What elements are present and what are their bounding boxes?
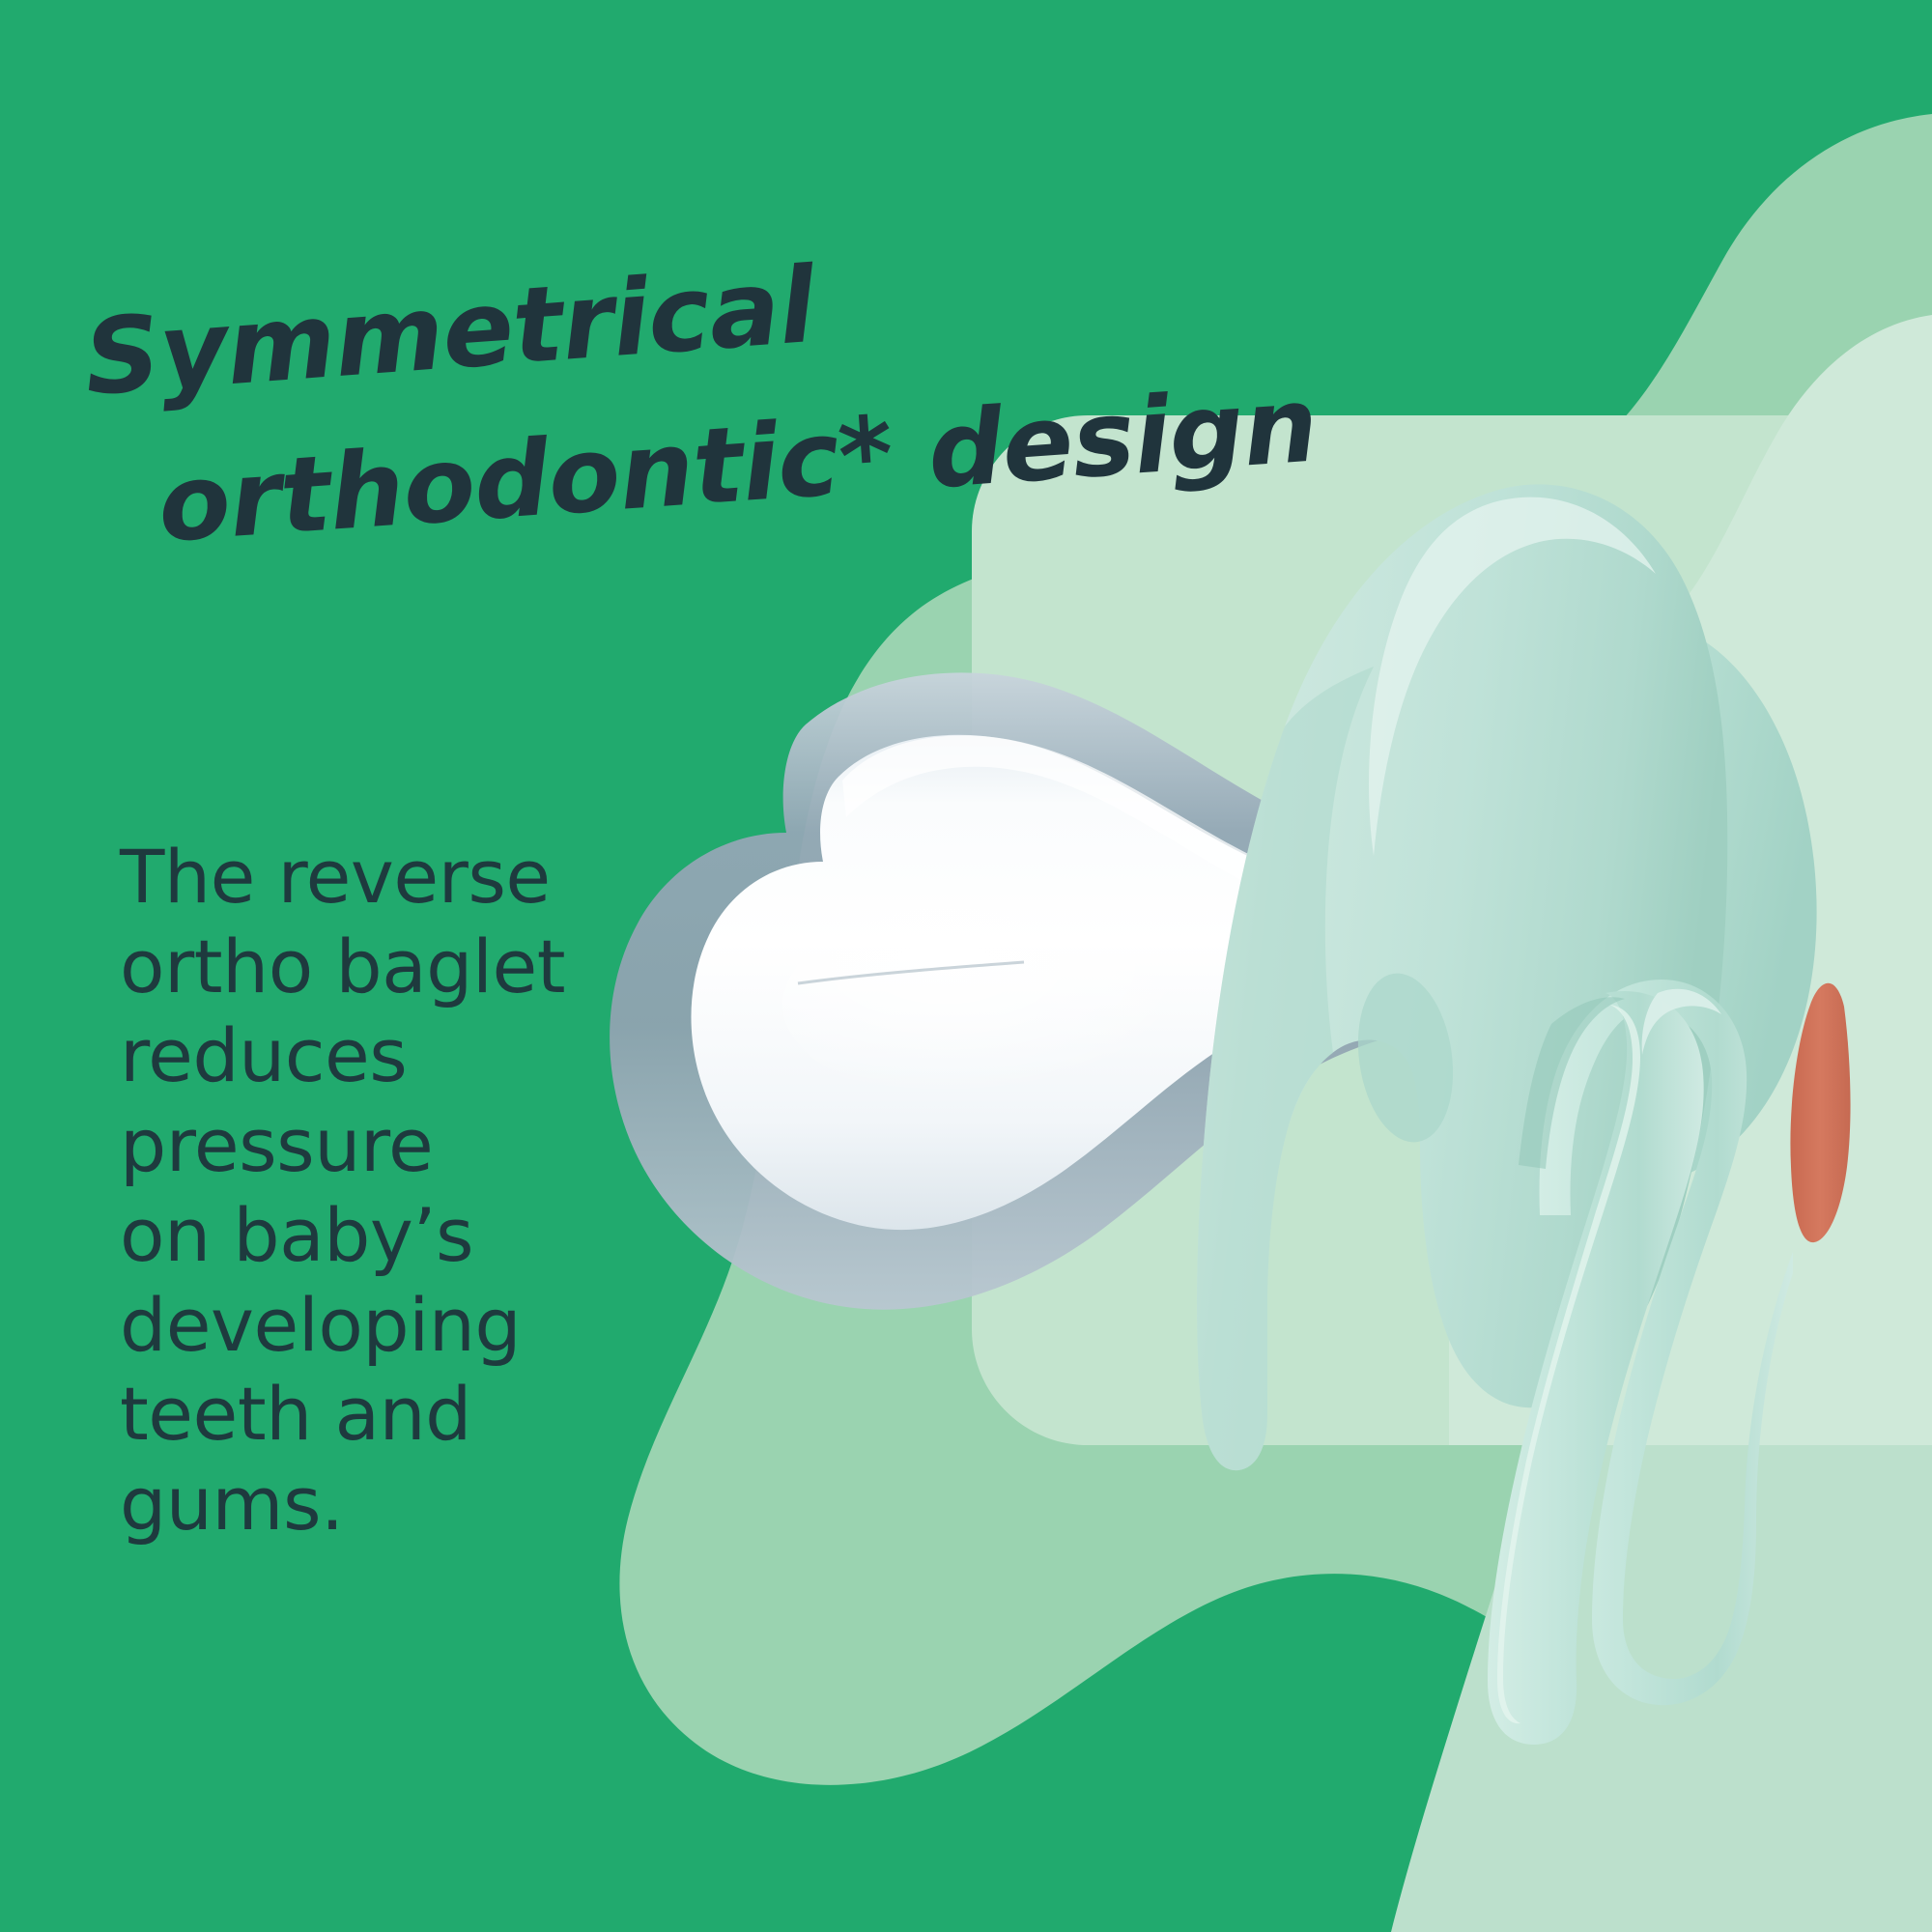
body-line: developing — [120, 1281, 661, 1371]
promo-card: Symmetrical orthodontic* design The reve… — [0, 0, 1932, 1932]
body-line: The reverse — [120, 833, 661, 923]
text-block: Symmetrical orthodontic* design The reve… — [0, 0, 734, 1932]
body-line: teeth and — [120, 1370, 661, 1460]
body-line: reduces — [120, 1011, 661, 1101]
nipple-gloss — [782, 903, 1188, 1106]
body-paragraph: The reverse ortho baglet reduces pressur… — [120, 833, 661, 1549]
body-line: gums. — [120, 1460, 661, 1549]
body-line: on baby’s — [120, 1191, 661, 1281]
body-line: ortho baglet — [120, 923, 661, 1012]
headline-line-1: Symmetrical — [81, 254, 818, 412]
body-line: pressure — [120, 1101, 661, 1191]
